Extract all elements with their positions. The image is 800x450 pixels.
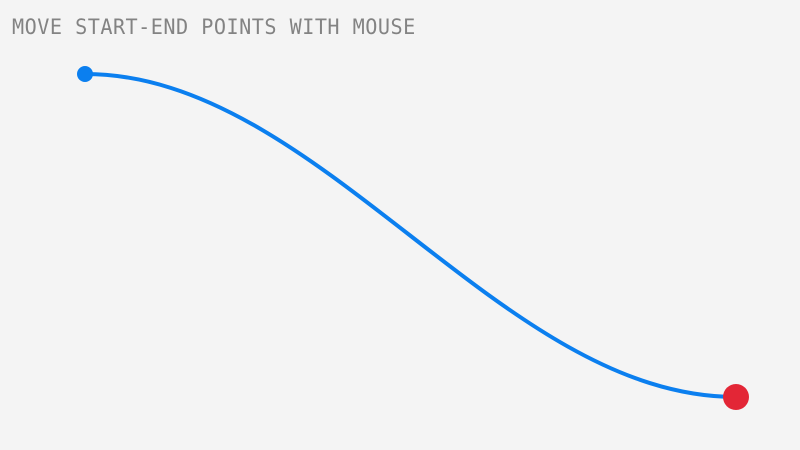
curve-canvas[interactable] xyxy=(0,0,800,450)
end-point-handle[interactable] xyxy=(723,384,749,410)
bezier-curve-path xyxy=(85,74,736,397)
bezier-demo-app: MOVE START-END POINTS WITH MOUSE xyxy=(0,0,800,450)
start-point-handle[interactable] xyxy=(77,66,93,82)
